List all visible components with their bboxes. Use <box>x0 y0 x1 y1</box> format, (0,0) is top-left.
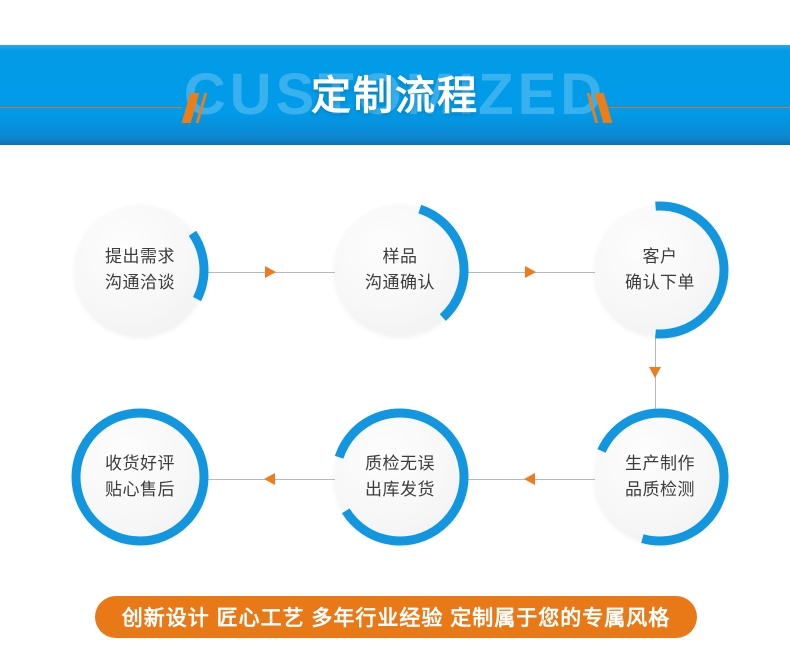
process-step-4[interactable]: 生产制作 品质检测 <box>595 412 725 542</box>
arrow-left-icon <box>264 473 275 485</box>
arrow-left-icon <box>524 473 535 485</box>
customization-process-page: CUSTOMIZED 定制流程 <box>0 0 790 666</box>
step-5-line-1: 质检无误 <box>365 451 435 477</box>
step-3-line-1: 客户 <box>643 244 678 270</box>
step-3-caption: 客户 确认下单 <box>595 205 725 335</box>
connector-step2-to-step3 <box>465 266 595 279</box>
step-5-line-2: 出库发货 <box>365 477 435 503</box>
page-title: 定制流程 <box>0 45 790 145</box>
connector-step4-to-step5 <box>465 473 595 486</box>
connector-step3-to-step4 <box>649 333 662 411</box>
step-2-line-1: 样品 <box>383 244 418 270</box>
connector-step1-to-step2 <box>205 266 335 279</box>
process-step-5[interactable]: 质检无误 出库发货 <box>335 412 465 542</box>
arrow-down-icon <box>649 367 661 378</box>
step-1-line-2: 沟通洽谈 <box>105 270 175 296</box>
step-4-caption: 生产制作 品质检测 <box>595 412 725 542</box>
process-step-1[interactable]: 提出需求 沟通洽谈 <box>75 205 205 335</box>
header-banner: CUSTOMIZED 定制流程 <box>0 45 790 145</box>
header-banner-inner: CUSTOMIZED 定制流程 <box>0 45 790 145</box>
step-6-line-1: 收货好评 <box>105 451 175 477</box>
step-2-line-2: 沟通确认 <box>365 270 435 296</box>
process-flow-diagram: 提出需求 沟通洽谈 样品 沟通确认 客户 确认下单 生产制作 <box>0 145 790 585</box>
step-3-line-2: 确认下单 <box>625 270 695 296</box>
step-1-line-1: 提出需求 <box>105 244 175 270</box>
connector-step5-to-step6 <box>205 473 335 486</box>
process-step-3[interactable]: 客户 确认下单 <box>595 205 725 335</box>
arrow-right-icon <box>265 266 276 278</box>
arrow-right-icon <box>525 266 536 278</box>
step-1-caption: 提出需求 沟通洽谈 <box>75 205 205 335</box>
process-step-2[interactable]: 样品 沟通确认 <box>335 205 465 335</box>
footer-slogan-pill[interactable]: 创新设计 匠心工艺 多年行业经验 定制属于您的专属风格 <box>95 596 697 638</box>
step-4-line-1: 生产制作 <box>625 451 695 477</box>
step-6-line-2: 贴心售后 <box>105 477 175 503</box>
step-4-line-2: 品质检测 <box>625 477 695 503</box>
footer-slogan-text: 创新设计 匠心工艺 多年行业经验 定制属于您的专属风格 <box>122 602 671 632</box>
step-2-caption: 样品 沟通确认 <box>335 205 465 335</box>
step-5-caption: 质检无误 出库发货 <box>335 412 465 542</box>
process-step-6[interactable]: 收货好评 贴心售后 <box>75 412 205 542</box>
step-6-caption: 收货好评 贴心售后 <box>75 412 205 542</box>
